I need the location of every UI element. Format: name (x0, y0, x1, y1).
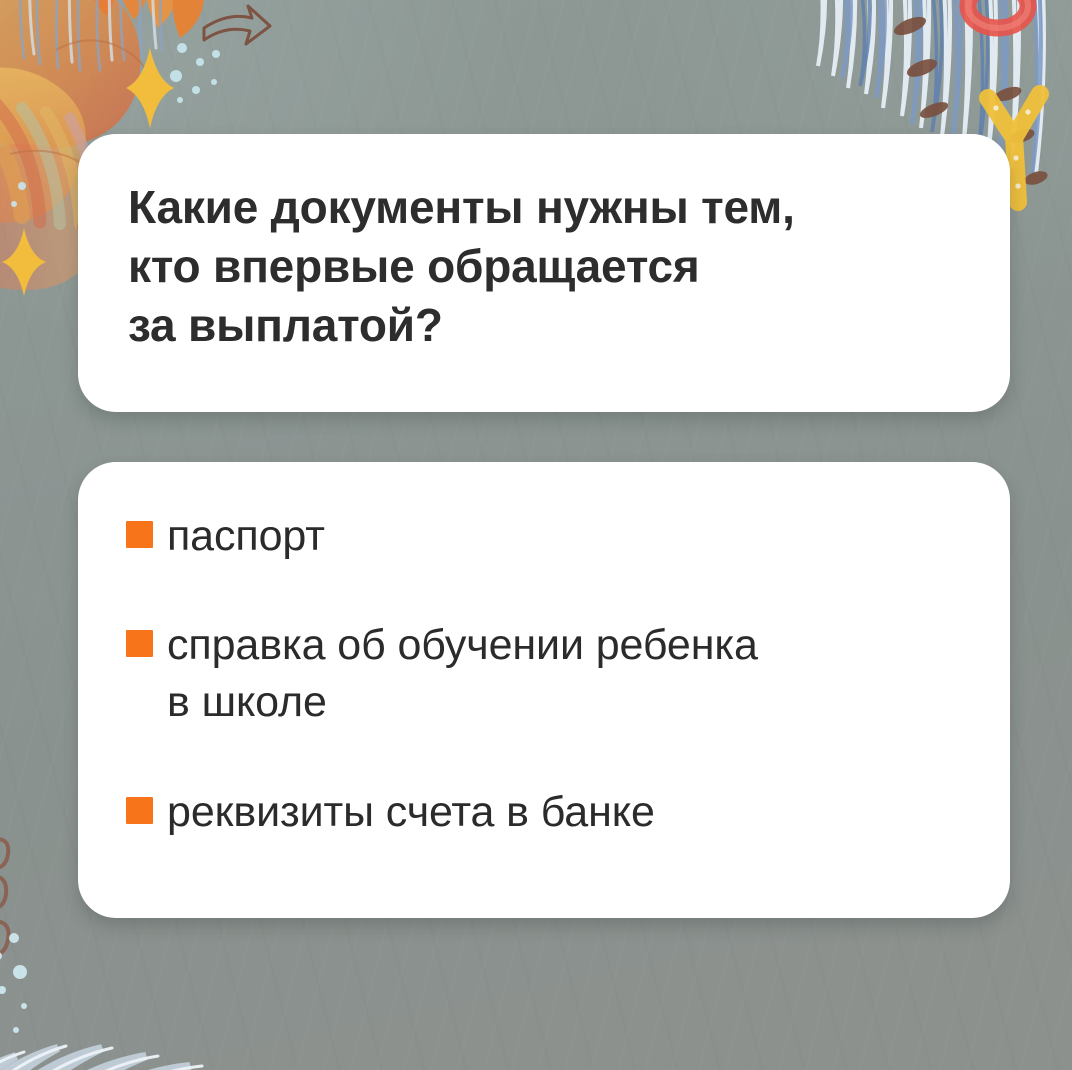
orange-square-bullet-icon (126, 630, 153, 657)
list-item: реквизиты счета в банке (126, 784, 960, 841)
orange-square-bullet-icon (126, 521, 153, 548)
poster-canvas: Какие документы нужны тем, кто впервые о… (0, 0, 1072, 1070)
answers-list: паспорт справка об обучении ребенка в шк… (126, 508, 960, 841)
question-card: Какие документы нужны тем, кто впервые о… (78, 134, 1010, 412)
list-item-label: реквизиты счета в банке (167, 784, 655, 841)
page-title: Какие документы нужны тем, кто впервые о… (128, 178, 795, 355)
sparkle-star-icon (126, 48, 174, 128)
list-item: справка об обучении ребенка в школе (126, 617, 960, 731)
list-item: паспорт (126, 508, 960, 565)
list-item-label: справка об обучении ребенка в школе (167, 617, 758, 731)
letter-o-doodle (968, 0, 1028, 28)
answers-card: паспорт справка об обучении ребенка в шк… (78, 462, 1010, 918)
orange-square-bullet-icon (126, 797, 153, 824)
sparkle-star-icon (2, 228, 46, 296)
arrow-doodle-decoration (196, 0, 326, 82)
list-item-label: паспорт (167, 508, 325, 565)
